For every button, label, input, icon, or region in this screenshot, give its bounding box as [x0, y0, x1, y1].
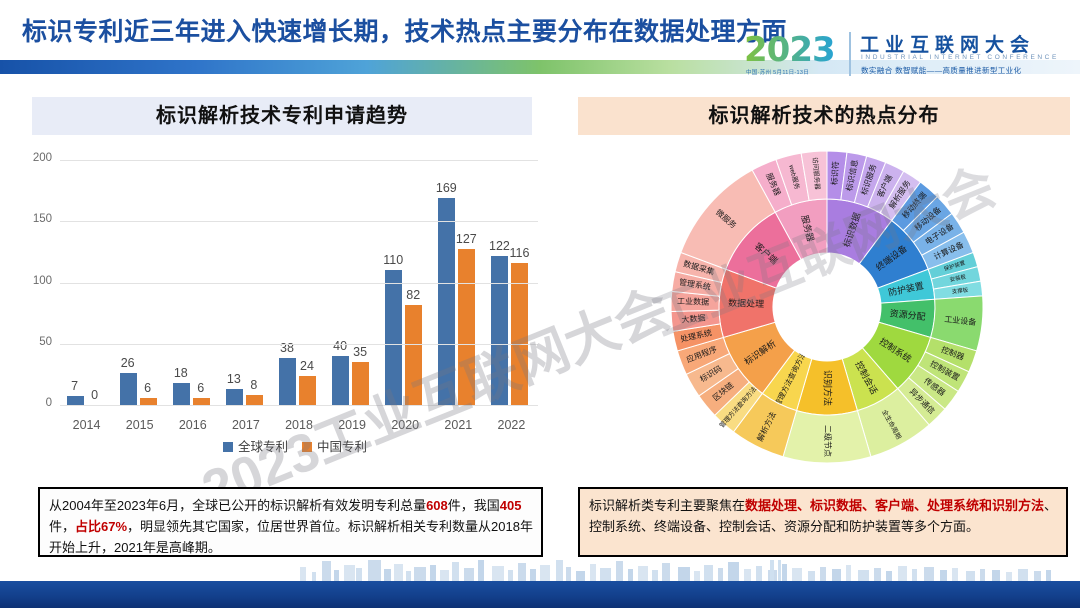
- skyline-building: [440, 570, 449, 581]
- cap-left-seg3: 件，我国: [448, 498, 500, 513]
- cap-left-seg1: 从2004年至2023年6月，全球已公开的标识解析有效发明专利总量: [49, 498, 426, 513]
- skyline-building: [540, 565, 550, 581]
- skyline-building: [678, 567, 690, 581]
- skyline-building: [384, 569, 391, 581]
- skyline-building: [1018, 569, 1028, 581]
- skyline-building: [694, 571, 700, 581]
- skyline-building: [368, 560, 381, 581]
- x-axis-tick-2020: 2020: [382, 418, 428, 432]
- skyline-building: [616, 561, 623, 581]
- bar-value-label: 0: [79, 388, 111, 402]
- bar-value-label: 82: [397, 288, 429, 302]
- skyline-building: [808, 571, 815, 581]
- gridline: [60, 283, 538, 284]
- skyline-building: [628, 569, 633, 581]
- x-axis-tick-2022: 2022: [488, 418, 534, 432]
- skyline-building: [430, 565, 436, 581]
- bar-value-label: 6: [132, 381, 164, 395]
- logo-date: 中国·苏州 5月11日-13日: [746, 68, 809, 76]
- skyline-building: [832, 569, 841, 581]
- bar-中国专利-2021: [458, 249, 475, 405]
- bar-value-label: 18: [165, 366, 197, 380]
- skyline-tower: [778, 560, 781, 581]
- cap-left-seg5: 件，: [49, 519, 75, 534]
- skyline-building: [530, 569, 536, 581]
- skyline-building: [478, 560, 484, 581]
- bar-中国专利-2022: [511, 263, 528, 405]
- legend-swatch: [302, 442, 312, 452]
- donut-outer-label-二级节点: 二级节点: [823, 425, 833, 457]
- y-axis-tick: 150: [18, 213, 52, 225]
- bar-全球专利-2019: [332, 356, 349, 405]
- right-panel-title: 标识解析技术的热点分布: [578, 97, 1070, 135]
- gridline: [60, 344, 538, 345]
- skyline-building: [394, 564, 403, 581]
- skyline-building: [1046, 570, 1051, 581]
- hotspot-donut-chart: 标识数据终端设备防护装置资源分配控制系统控制会话识别方法管理方法查询方法标识解析…: [666, 146, 988, 468]
- logo-name-en: INDUSTRIAL INTERNET CONFERENCE: [861, 54, 1059, 61]
- skyline-building: [992, 570, 1000, 581]
- donut-svg: 标识数据终端设备防护装置资源分配控制系统控制会话识别方法管理方法查询方法标识解析…: [666, 146, 988, 468]
- skyline-building: [756, 566, 762, 581]
- skyline-building: [300, 567, 306, 581]
- donut-inner-label-识别方法: 识别方法: [823, 370, 834, 406]
- donut-outer-label-工业数据: 工业数据: [677, 296, 709, 307]
- logo-name-cn: 工业互联网大会: [860, 30, 1035, 57]
- skyline-building: [652, 570, 658, 581]
- cap-left-percent: 占比67%: [75, 519, 127, 534]
- cap-left-608: 608: [426, 498, 448, 513]
- skyline-building: [728, 562, 739, 581]
- skyline-building: [312, 572, 316, 581]
- y-axis-tick: 50: [18, 336, 52, 348]
- donut-center-hole: [773, 253, 881, 361]
- gridline: [60, 405, 538, 406]
- skyline-building: [718, 568, 723, 581]
- bar-中国专利-2019: [352, 362, 369, 405]
- skyline-building: [406, 571, 411, 581]
- x-axis-tick-2014: 2014: [64, 418, 110, 432]
- logo-slogan: 数实融合 数智赋能——高质量推进新型工业化: [861, 65, 1021, 76]
- legend-swatch: [223, 442, 233, 452]
- bar-value-label: 127: [450, 232, 482, 246]
- logo-year: 2023: [744, 30, 835, 70]
- skyline-building: [452, 562, 459, 581]
- skyline-building: [886, 571, 892, 581]
- skyline-building: [566, 567, 571, 581]
- cap-left-405: 405: [500, 498, 522, 513]
- skyline-building: [782, 564, 787, 581]
- donut-inner-label-数据处理: 数据处理: [728, 297, 764, 309]
- skyline-building: [704, 565, 713, 581]
- skyline-building: [980, 569, 985, 581]
- y-axis-tick: 200: [18, 152, 52, 164]
- left-caption-box: 从2004年至2023年6月，全球已公开的标识解析有效发明专利总量608件，我国…: [38, 487, 543, 557]
- footer-blue-band: [0, 581, 1080, 608]
- skyline-building: [492, 566, 504, 581]
- bar-中国专利-2020: [405, 305, 422, 405]
- skyline-building: [952, 568, 958, 581]
- bar-value-label: 116: [503, 246, 535, 260]
- y-axis-tick: 100: [18, 275, 52, 287]
- skyline-building: [518, 563, 526, 581]
- skyline-building: [912, 569, 917, 581]
- skyline-building: [744, 569, 751, 581]
- skyline-building: [508, 570, 513, 581]
- legend-label-全球专利: 全球专利: [238, 440, 288, 454]
- skyline-building: [792, 568, 802, 581]
- bar-value-label: 110: [377, 253, 409, 267]
- page-header: 标识专利近三年进入快速增长期，技术热点主要分布在数据处理方面 2023 中国·苏…: [0, 0, 1080, 84]
- skyline-building: [600, 568, 611, 581]
- bar-value-label: 169: [430, 181, 462, 195]
- bar-中国专利-2015: [140, 398, 157, 405]
- skyline-building: [556, 560, 563, 581]
- skyline-building: [662, 563, 670, 581]
- x-axis-tick-2016: 2016: [170, 418, 216, 432]
- bar-中国专利-2017: [246, 395, 263, 405]
- skyline-building: [590, 564, 596, 581]
- bar-中国专利-2018: [299, 376, 316, 405]
- skyline-building: [356, 568, 362, 581]
- gridline: [60, 221, 538, 222]
- bar-value-label: 24: [291, 359, 323, 373]
- page-title: 标识专利近三年进入快速增长期，技术热点主要分布在数据处理方面: [22, 12, 787, 48]
- skyline-building: [334, 570, 339, 581]
- donut-outer-label-标识符: 标识符: [829, 161, 841, 186]
- skyline-building: [464, 568, 474, 581]
- skyline-building: [966, 571, 975, 581]
- right-caption-box: 标识解析类专利主要聚焦在数据处理、标识数据、客户端、处理系统和识别方法、控制系统…: [578, 487, 1068, 557]
- legend-label-中国专利: 中国专利: [317, 440, 367, 454]
- cap-right-seg1: 标识解析类专利主要聚焦在: [589, 498, 745, 513]
- bar-value-label: 26: [112, 356, 144, 370]
- skyline-building: [1006, 572, 1012, 581]
- bar-全球专利-2021: [438, 198, 455, 405]
- x-axis-tick-2017: 2017: [223, 418, 269, 432]
- x-axis-tick-2015: 2015: [117, 418, 163, 432]
- page-footer: [0, 560, 1080, 608]
- skyline-building: [874, 568, 881, 581]
- skyline-building: [846, 565, 851, 581]
- skyline-building: [322, 561, 331, 581]
- y-axis-tick: 0: [18, 397, 52, 409]
- x-axis-tick-2018: 2018: [276, 418, 322, 432]
- bar-全球专利-2022: [491, 256, 508, 405]
- skyline-building: [858, 570, 869, 581]
- skyline-building: [940, 570, 947, 581]
- skyline-building: [924, 567, 934, 581]
- skyline-building: [414, 567, 426, 581]
- x-axis-tick-2019: 2019: [329, 418, 375, 432]
- logo-divider: [849, 32, 851, 76]
- cap-right-highlight: 数据处理、标识数据、客户端、处理系统和识别方法: [745, 498, 1044, 513]
- chart-legend: 全球专利中国专利: [18, 436, 558, 455]
- x-axis-tick-2021: 2021: [435, 418, 481, 432]
- skyline-building: [1034, 571, 1041, 581]
- conference-logo: 2023 中国·苏州 5月11日-13日 工业互联网大会 INDUSTRIAL …: [744, 30, 1074, 84]
- skyline-building: [820, 567, 826, 581]
- bar-中国专利-2016: [193, 398, 210, 405]
- skyline-building: [638, 566, 648, 581]
- bar-value-label: 8: [238, 378, 270, 392]
- skyline-tower: [770, 560, 774, 581]
- bar-value-label: 6: [185, 381, 217, 395]
- skyline-building: [576, 571, 585, 581]
- patent-trend-bar-chart: 702661861383824403511082169127122116 全球专…: [18, 150, 558, 462]
- gridline: [60, 160, 538, 161]
- bar-value-label: 35: [344, 345, 376, 359]
- skyline-building: [898, 566, 907, 581]
- skyline-building: [344, 565, 355, 581]
- left-panel-title: 标识解析技术专利申请趋势: [32, 97, 532, 135]
